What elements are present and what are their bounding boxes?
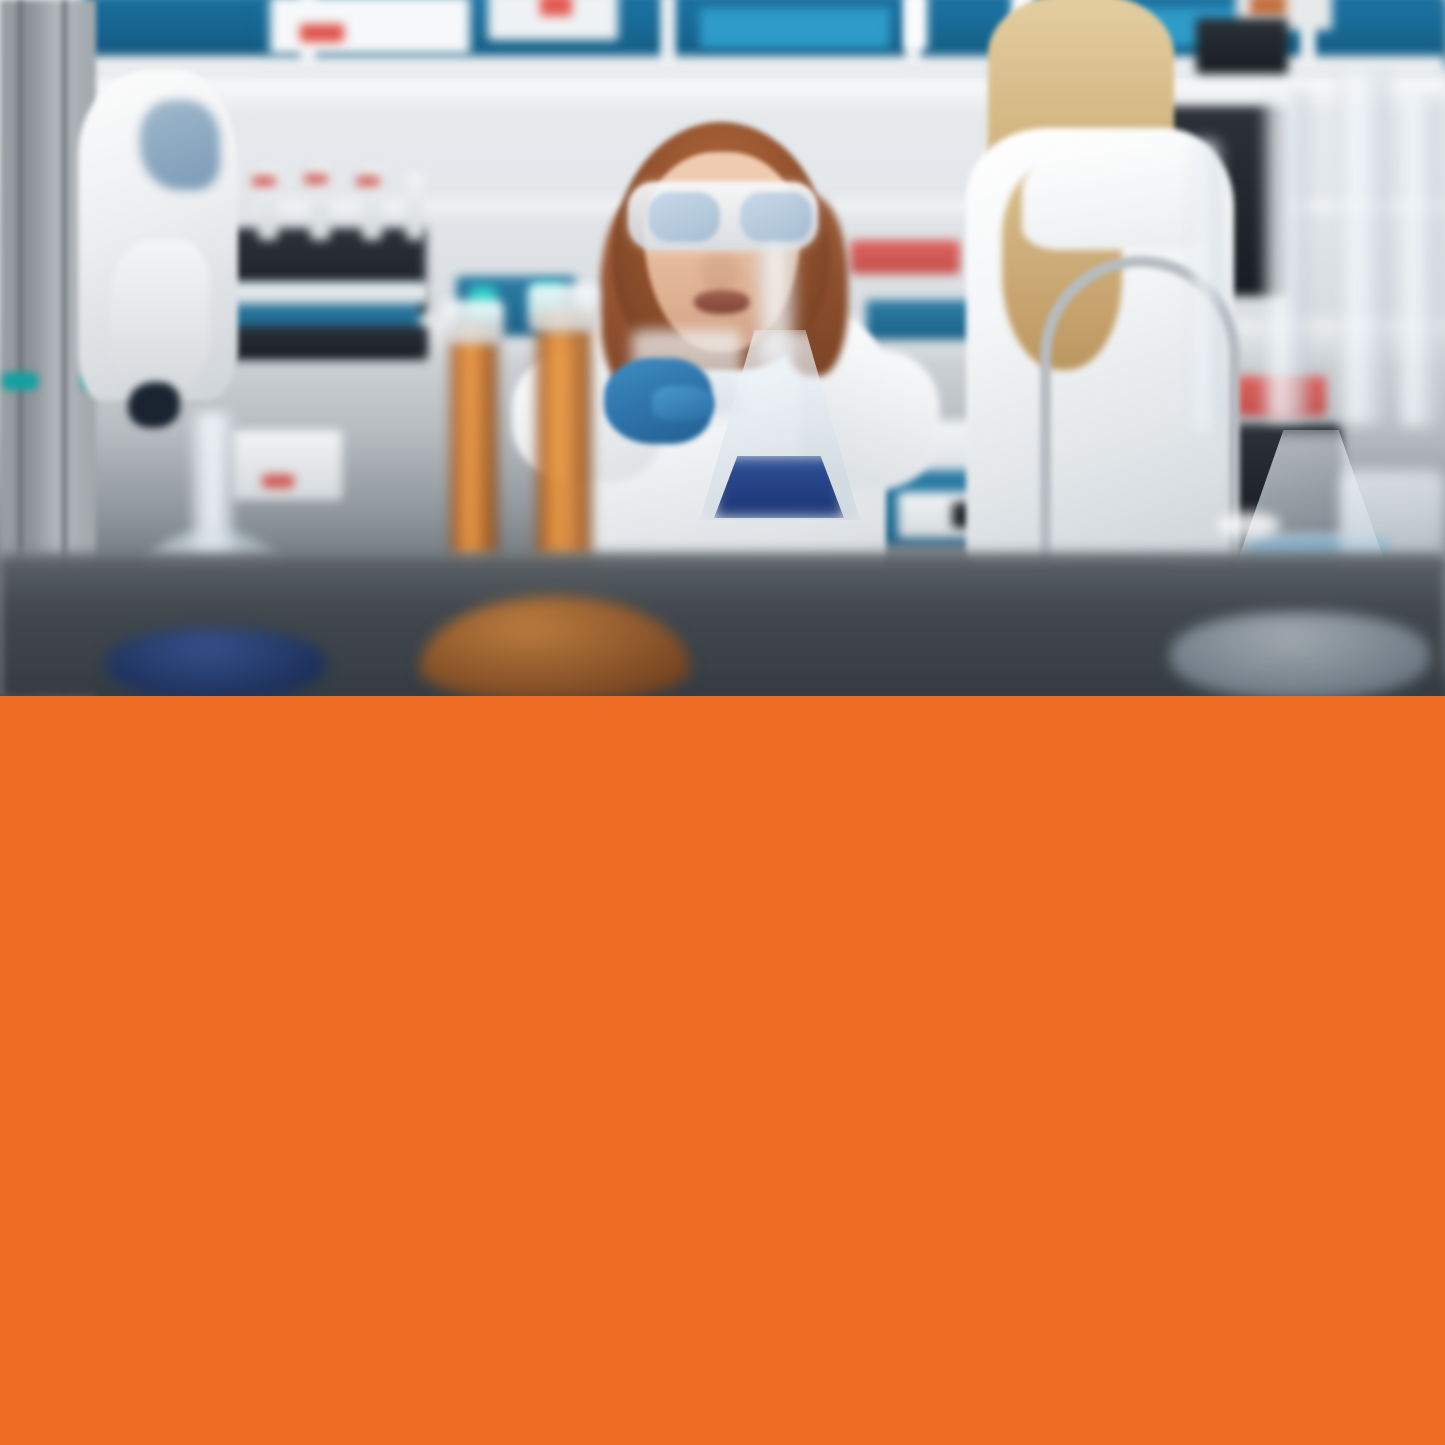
clear-column xyxy=(1396,96,1442,426)
clear-column xyxy=(1264,90,1308,420)
page-title: THERE IS A FINE LINE BETWEEN PASSION AND… xyxy=(110,1437,1380,1445)
shelf-bottle xyxy=(905,0,927,50)
clear-column xyxy=(1338,74,1390,424)
shelf-red-tag xyxy=(540,0,572,16)
left-technician-arm xyxy=(110,240,210,390)
clear-rod xyxy=(1192,140,1222,430)
goggle-lens-left xyxy=(648,192,720,242)
shelf-blue-item xyxy=(700,8,890,48)
flask-500-base xyxy=(106,628,326,696)
lab-photo: 500 xyxy=(0,0,1445,696)
shelf-red-tag xyxy=(300,24,344,42)
orange-text-panel: THERE IS A FINE LINE BETWEEN PASSION AND… xyxy=(0,696,1445,1445)
ad-creative: 500 THERE IS A FINE LINE BETWEEN PASSION… xyxy=(0,0,1445,1445)
shelf-red-bin xyxy=(850,240,960,274)
tube-cap xyxy=(304,174,328,184)
shelf-item xyxy=(1250,0,1286,16)
glove-fingers xyxy=(652,386,714,420)
tube-cap xyxy=(356,176,380,186)
clear-flask-base xyxy=(1170,612,1430,696)
glass-highlight xyxy=(1218,512,1280,538)
right-scientist-shoulder xyxy=(1022,140,1212,250)
tube-cap xyxy=(252,176,276,186)
center-scientist-nose xyxy=(700,248,740,292)
teal-marker xyxy=(2,372,38,390)
cabinet-dark-pane xyxy=(1196,18,1288,74)
test-tube xyxy=(406,172,424,240)
goggle-lens-right xyxy=(740,192,812,242)
amber-column-cap xyxy=(528,284,598,332)
center-scientist-mouth xyxy=(694,290,750,314)
amber-column-cap xyxy=(442,300,504,344)
left-technician-scarf xyxy=(140,100,220,190)
